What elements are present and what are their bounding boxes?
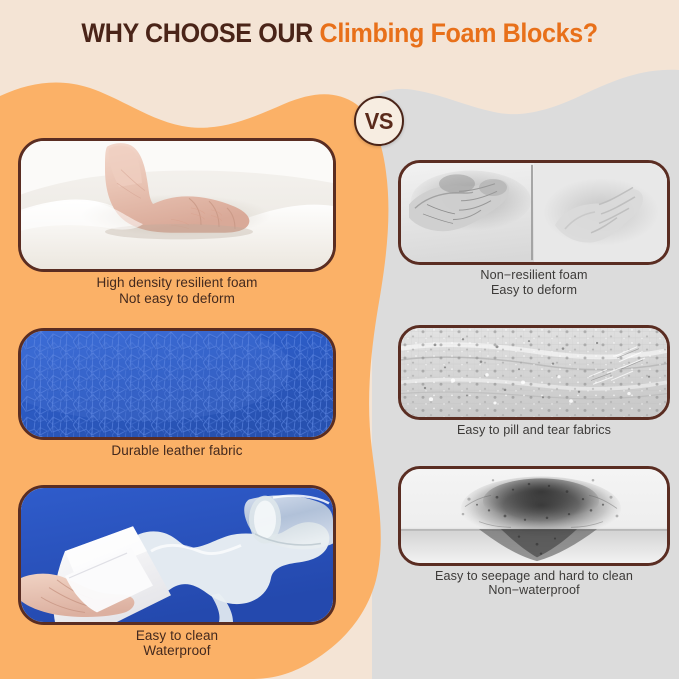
wiping-milk-spill-with-cloth-photo bbox=[21, 488, 333, 622]
foot-pressing-resilient-foam-photo bbox=[21, 141, 333, 269]
left-card-2-frame bbox=[18, 328, 336, 440]
right-card-1-caption-line1: Non−resilient foam bbox=[398, 268, 670, 283]
infographic-stage: WHY CHOOSE OUR Climbing Foam Blocks? VS bbox=[0, 0, 679, 679]
title-accent: Climbing Foam Blocks? bbox=[319, 18, 597, 48]
right-card-1-caption: Non−resilient foam Easy to deform bbox=[398, 268, 670, 297]
right-card-3-caption-line2: Non−waterproof bbox=[398, 583, 670, 598]
right-card-3-caption: Easy to seepage and hard to clean Non−wa… bbox=[398, 569, 670, 598]
title-text-wrapper: WHY CHOOSE OUR Climbing Foam Blocks? bbox=[81, 20, 597, 47]
left-card-3-caption-line1: Easy to clean bbox=[18, 628, 336, 644]
right-spacer-2 bbox=[398, 440, 670, 466]
left-card-2: Durable leather fabric bbox=[18, 328, 336, 459]
left-card-1-caption: High density resilient foam Not easy to … bbox=[18, 275, 336, 306]
left-card-3-frame bbox=[18, 485, 336, 625]
right-card-3-caption-line1: Easy to seepage and hard to clean bbox=[398, 569, 670, 584]
left-card-2-caption: Durable leather fabric bbox=[18, 443, 336, 459]
right-card-3: Easy to seepage and hard to clean Non−wa… bbox=[398, 466, 670, 598]
right-card-1-caption-line2: Easy to deform bbox=[398, 283, 670, 298]
hand-pressing-nonresilient-foam-grayscale-photo bbox=[401, 163, 667, 262]
vs-badge-label: VS bbox=[365, 108, 393, 135]
left-spacer-2 bbox=[18, 461, 336, 485]
left-card-3: Easy to clean Waterproof bbox=[18, 485, 336, 659]
right-card-2: Easy to pill and tear fabrics bbox=[398, 325, 670, 438]
left-card-3-caption-line2: Waterproof bbox=[18, 643, 336, 659]
left-card-1-caption-line1: High density resilient foam bbox=[18, 275, 336, 291]
right-card-2-caption: Easy to pill and tear fabrics bbox=[398, 423, 670, 438]
page-title: WHY CHOOSE OUR Climbing Foam Blocks? bbox=[0, 20, 679, 47]
left-spacer-1 bbox=[18, 308, 336, 328]
right-card-3-frame bbox=[398, 466, 670, 566]
left-comparison-column: High density resilient foam Not easy to … bbox=[18, 138, 336, 661]
right-card-2-frame bbox=[398, 325, 670, 420]
right-card-1-frame bbox=[398, 160, 670, 265]
title-prefix: WHY CHOOSE OUR bbox=[81, 18, 313, 48]
left-card-1-frame bbox=[18, 138, 336, 272]
left-card-2-caption-line1: Durable leather fabric bbox=[18, 443, 336, 459]
right-card-1: Non−resilient foam Easy to deform bbox=[398, 160, 670, 297]
liquid-seepage-stain-grayscale-photo bbox=[401, 469, 667, 563]
vs-badge: VS bbox=[354, 96, 404, 146]
blue-leather-fabric-texture-photo bbox=[21, 331, 333, 437]
right-spacer-1 bbox=[398, 299, 670, 325]
pilled-torn-fabric-grayscale-photo bbox=[401, 328, 667, 417]
left-card-1-caption-line2: Not easy to deform bbox=[18, 291, 336, 307]
left-card-3-caption: Easy to clean Waterproof bbox=[18, 628, 336, 659]
right-comparison-column: Non−resilient foam Easy to deform bbox=[398, 160, 670, 600]
right-card-2-caption-line1: Easy to pill and tear fabrics bbox=[398, 423, 670, 438]
left-card-1: High density resilient foam Not easy to … bbox=[18, 138, 336, 306]
